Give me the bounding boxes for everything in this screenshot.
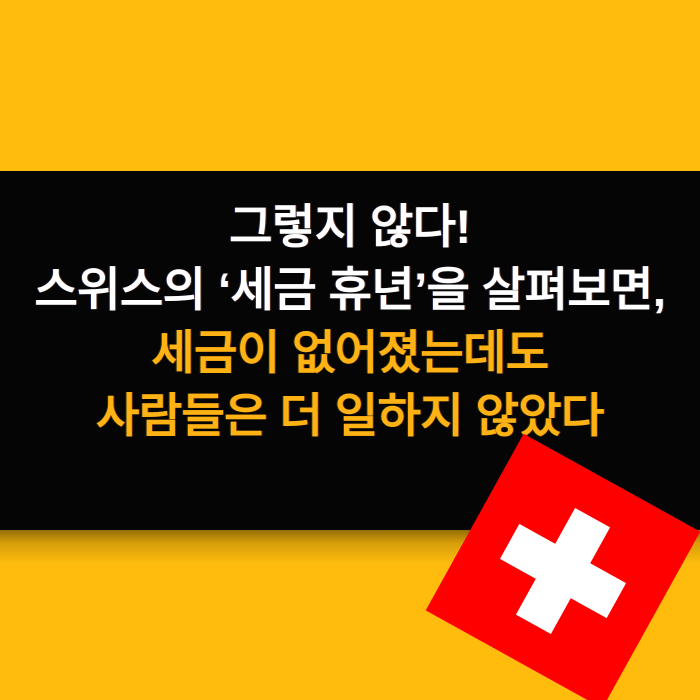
headline-line-4: 사람들은 더 일하지 않았다 (0, 392, 700, 439)
headline-line-3: 세금이 없어졌는데도 (0, 329, 700, 376)
card-canvas: 그렇지 않다! 스위스의 ‘세금 휴년’을 살펴보면, 세금이 없어졌는데도 사… (0, 0, 700, 700)
headline-line-1: 그렇지 않다! (0, 203, 700, 250)
headline-block: 그렇지 않다! 스위스의 ‘세금 휴년’을 살펴보면, 세금이 없어졌는데도 사… (0, 171, 700, 471)
headline-line-2: 스위스의 ‘세금 휴년’을 살펴보면, (0, 266, 700, 313)
top-yellow-band (0, 0, 700, 171)
